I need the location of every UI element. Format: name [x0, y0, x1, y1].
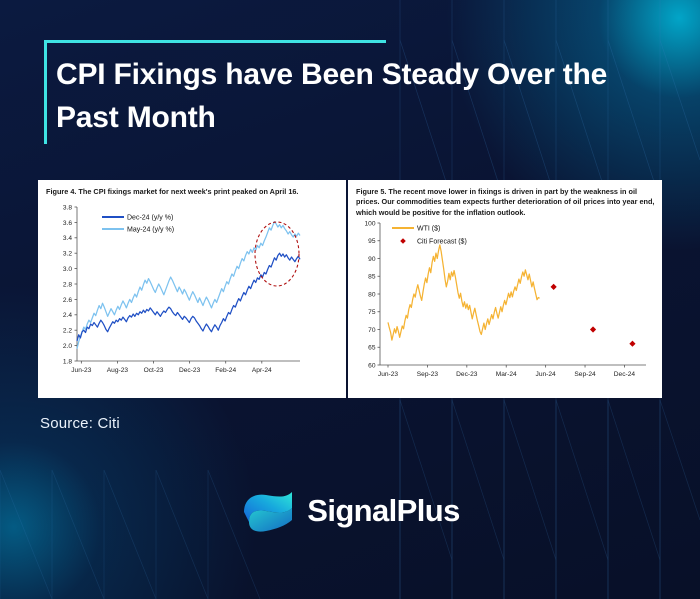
svg-text:Dec-24: Dec-24: [614, 371, 636, 378]
svg-text:Oct-23: Oct-23: [144, 367, 164, 374]
svg-text:Jun-24: Jun-24: [536, 371, 556, 378]
x-axis-tick-labels: Jun-23Sep-23Dec-23Mar-24Jun-24Sep-24Dec-…: [378, 371, 635, 378]
brand-logo: SignalPlus: [0, 486, 700, 536]
svg-text:Citi Forecast ($): Citi Forecast ($): [417, 239, 467, 246]
svg-text:3.6: 3.6: [63, 220, 72, 227]
svg-text:85: 85: [368, 274, 376, 281]
svg-text:Sep-24: Sep-24: [574, 371, 596, 378]
figure-5-panel: Figure 5. The recent move lower in fixin…: [348, 180, 662, 398]
chart-legend: Dec-24 (y/y %)May-24 (y/y %): [102, 215, 174, 234]
svg-text:1.8: 1.8: [63, 358, 72, 365]
svg-text:75: 75: [368, 309, 376, 316]
svg-text:2.4: 2.4: [63, 312, 72, 319]
series-line-may24: [77, 222, 300, 349]
svg-text:65: 65: [368, 345, 376, 352]
svg-text:2.0: 2.0: [63, 343, 72, 350]
svg-text:3.2: 3.2: [63, 251, 72, 258]
figure-5-plot: 6065707580859095100 Jun-23Sep-23Dec-23Ma…: [354, 220, 656, 394]
source-label: Source: Citi: [40, 415, 120, 432]
svg-text:Jun-23: Jun-23: [71, 367, 91, 374]
svg-text:80: 80: [368, 292, 376, 299]
x-axis-tick-labels: Jun-23Aug-23Oct-23Dec-23Feb-24Apr-24: [71, 367, 272, 374]
title-block: CPI Fixings have Been Steady Over the Pa…: [38, 40, 678, 139]
svg-text:2.8: 2.8: [63, 281, 72, 288]
figure-5-caption: Figure 5. The recent move lower in fixin…: [356, 187, 655, 218]
svg-text:Jun-23: Jun-23: [378, 371, 398, 378]
y-axis-tick-labels: 1.82.02.22.42.62.83.03.23.43.63.8: [63, 204, 72, 365]
brand-name: SignalPlus: [307, 493, 459, 529]
svg-text:60: 60: [368, 363, 376, 370]
svg-text:May-24 (y/y %): May-24 (y/y %): [127, 227, 174, 234]
figure-4-plot: 1.82.02.22.42.62.83.03.23.43.63.8 Jun-23…: [44, 201, 340, 394]
svg-text:Dec-23: Dec-23: [456, 371, 478, 378]
page-title: CPI Fixings have Been Steady Over the Pa…: [38, 40, 676, 139]
svg-text:WTI ($): WTI ($): [417, 226, 440, 233]
svg-text:Aug-23: Aug-23: [107, 367, 129, 374]
y-axis-tick-labels: 6065707580859095100: [364, 221, 375, 370]
svg-text:100: 100: [364, 221, 375, 228]
svg-text:95: 95: [368, 238, 376, 245]
svg-text:70: 70: [368, 327, 376, 334]
svg-text:Dec-23: Dec-23: [179, 367, 201, 374]
accent-bar-left: [44, 40, 47, 144]
annotation-ellipse: [255, 222, 299, 286]
svg-text:3.4: 3.4: [63, 235, 72, 242]
figure-4-caption: Figure 4. The CPI fixings market for nex…: [46, 187, 339, 199]
svg-text:3.0: 3.0: [63, 266, 72, 273]
series-line-wti: [388, 245, 540, 340]
svg-text:2.2: 2.2: [63, 328, 72, 335]
figures-container: Figure 4. The CPI fixings market for nex…: [38, 180, 662, 398]
signalplus-wave-icon: [240, 486, 296, 536]
svg-text:3.8: 3.8: [63, 204, 72, 211]
cpi-fixings-line-chart: 1.82.02.22.42.62.83.03.23.43.63.8 Jun-23…: [44, 201, 340, 389]
svg-text:Dec-24 (y/y %): Dec-24 (y/y %): [127, 215, 173, 222]
chart-legend: WTI ($)Citi Forecast ($): [392, 226, 467, 246]
svg-text:Mar-24: Mar-24: [496, 371, 517, 378]
accent-bar-top: [44, 40, 386, 43]
svg-text:Feb-24: Feb-24: [215, 367, 236, 374]
svg-text:90: 90: [368, 256, 376, 263]
svg-text:Sep-23: Sep-23: [417, 371, 439, 378]
wti-oil-price-chart: 6065707580859095100 Jun-23Sep-23Dec-23Ma…: [354, 220, 656, 392]
svg-text:Apr-24: Apr-24: [252, 367, 272, 374]
svg-text:2.6: 2.6: [63, 297, 72, 304]
figure-4-panel: Figure 4. The CPI fixings market for nex…: [38, 180, 346, 398]
series-markers-citi-forecast: [551, 284, 636, 347]
